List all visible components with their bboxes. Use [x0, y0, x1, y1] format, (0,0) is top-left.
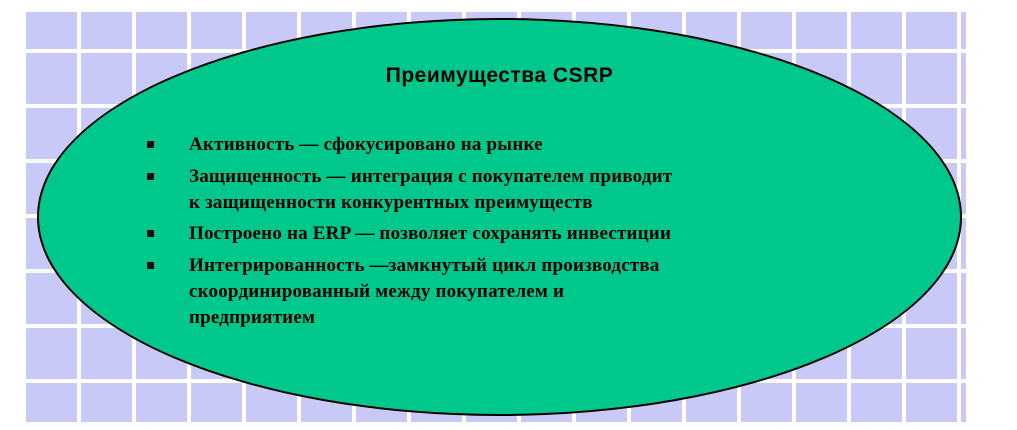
- bullet-list: Активность — сфокусировано на рынке Защи…: [147, 132, 947, 337]
- list-item[interactable]: Построено на ERP — позволяет сохранять и…: [147, 221, 947, 247]
- list-item-text: Активность — сфокусировано на рынке: [189, 132, 947, 158]
- slide-canvas: Преимущества CSRP Активность — сфокусиро…: [0, 0, 1017, 430]
- square-bullet-icon: [147, 262, 154, 269]
- list-item-text: Защищенность — интеграция с покупателем …: [189, 164, 947, 216]
- square-bullet-icon: [147, 173, 154, 180]
- list-item-text: Построено на ERP — позволяет сохранять и…: [189, 221, 947, 247]
- slide-title: Преимущества CSRP: [39, 64, 960, 88]
- square-bullet-icon: [147, 141, 154, 148]
- list-item-text: Интегрированность —замкнутый цикл произв…: [189, 253, 947, 330]
- ellipse-shape[interactable]: Преимущества CSRP Активность — сфокусиро…: [37, 18, 962, 416]
- ellipse-content: Преимущества CSRP Активность — сфокусиро…: [39, 20, 960, 414]
- list-item[interactable]: Активность — сфокусировано на рынке: [147, 132, 947, 158]
- square-bullet-icon: [147, 230, 154, 237]
- list-item[interactable]: Защищенность — интеграция с покупателем …: [147, 164, 947, 216]
- list-item[interactable]: Интегрированность —замкнутый цикл произв…: [147, 253, 947, 330]
